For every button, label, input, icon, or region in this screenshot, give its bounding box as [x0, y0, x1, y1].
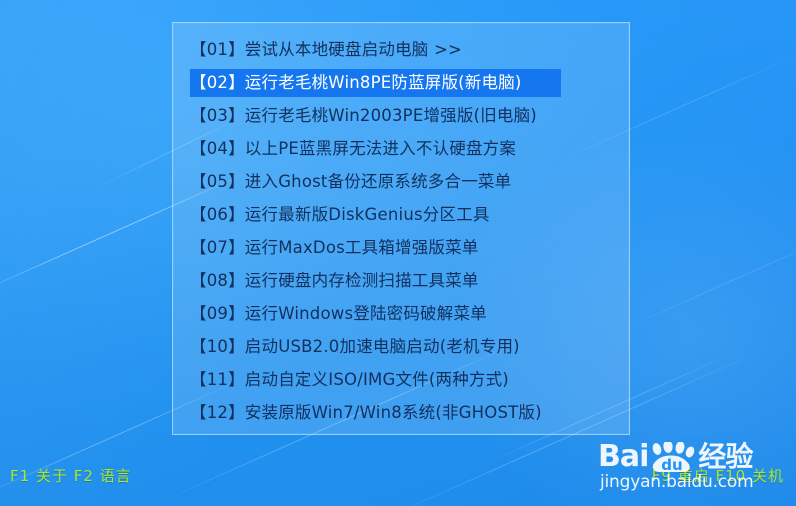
boot-menu-item-04[interactable]: 【04】以上PE蓝黑屏无法进入不认硬盘方案	[173, 134, 629, 164]
boot-menu-item-label: 【12】安装原版Win7/Win8系统(非GHOST版)	[190, 398, 542, 428]
boot-menu-item-08[interactable]: 【08】运行硬盘内存检测扫描工具菜单	[173, 266, 629, 296]
boot-menu-item-label: 【02】运行老毛桃Win8PE防蓝屏版(新电脑)	[190, 68, 522, 98]
boot-menu-item-11[interactable]: 【11】启动自定义ISO/IMG文件(两种方式)	[173, 365, 629, 395]
boot-menu-screen: 【01】尝试从本地硬盘启动电脑 >>【02】运行老毛桃Win8PE防蓝屏版(新电…	[0, 0, 796, 506]
boot-menu-item-01[interactable]: 【01】尝试从本地硬盘启动电脑 >>	[173, 35, 629, 65]
boot-menu-item-label: 【08】运行硬盘内存检测扫描工具菜单	[190, 266, 479, 296]
boot-menu-item-09[interactable]: 【09】运行Windows登陆密码破解菜单	[173, 299, 629, 329]
boot-menu-item-12[interactable]: 【12】安装原版Win7/Win8系统(非GHOST版)	[173, 398, 629, 428]
footer-hint-left: F1 关于 F2 语言	[10, 465, 132, 486]
boot-menu-item-07[interactable]: 【07】运行MaxDos工具箱增强版菜单	[173, 233, 629, 263]
boot-menu-item-label: 【11】启动自定义ISO/IMG文件(两种方式)	[190, 365, 509, 395]
boot-menu-item-03[interactable]: 【03】运行老毛桃Win2003PE增强版(旧电脑)	[173, 101, 629, 131]
boot-menu-panel: 【01】尝试从本地硬盘启动电脑 >>【02】运行老毛桃Win8PE防蓝屏版(新电…	[172, 22, 630, 435]
boot-menu-item-label: 【04】以上PE蓝黑屏无法进入不认硬盘方案	[190, 134, 516, 164]
boot-menu-item-06[interactable]: 【06】运行最新版DiskGenius分区工具	[173, 200, 629, 230]
boot-menu-item-10[interactable]: 【10】启动USB2.0加速电脑启动(老机专用)	[173, 332, 629, 362]
boot-menu-item-label: 【09】运行Windows登陆密码破解菜单	[190, 299, 487, 329]
boot-menu-item-label: 【07】运行MaxDos工具箱增强版菜单	[190, 233, 479, 263]
boot-menu-item-02[interactable]: 【02】运行老毛桃Win8PE防蓝屏版(新电脑)	[173, 68, 629, 98]
boot-menu-item-label: 【06】运行最新版DiskGenius分区工具	[190, 200, 490, 230]
boot-menu-item-label: 【01】尝试从本地硬盘启动电脑 >>	[190, 35, 462, 65]
footer-hint-right: F9 重启 F10 关机	[652, 465, 784, 486]
boot-menu-item-label: 【03】运行老毛桃Win2003PE增强版(旧电脑)	[190, 101, 537, 131]
boot-menu-item-05[interactable]: 【05】进入Ghost备份还原系统多合一菜单	[173, 167, 629, 197]
boot-menu-item-label: 【10】启动USB2.0加速电脑启动(老机专用)	[190, 332, 520, 362]
boot-menu-item-label: 【05】进入Ghost备份还原系统多合一菜单	[190, 167, 511, 197]
boot-menu-list: 【01】尝试从本地硬盘启动电脑 >>【02】运行老毛桃Win8PE防蓝屏版(新电…	[173, 35, 629, 431]
